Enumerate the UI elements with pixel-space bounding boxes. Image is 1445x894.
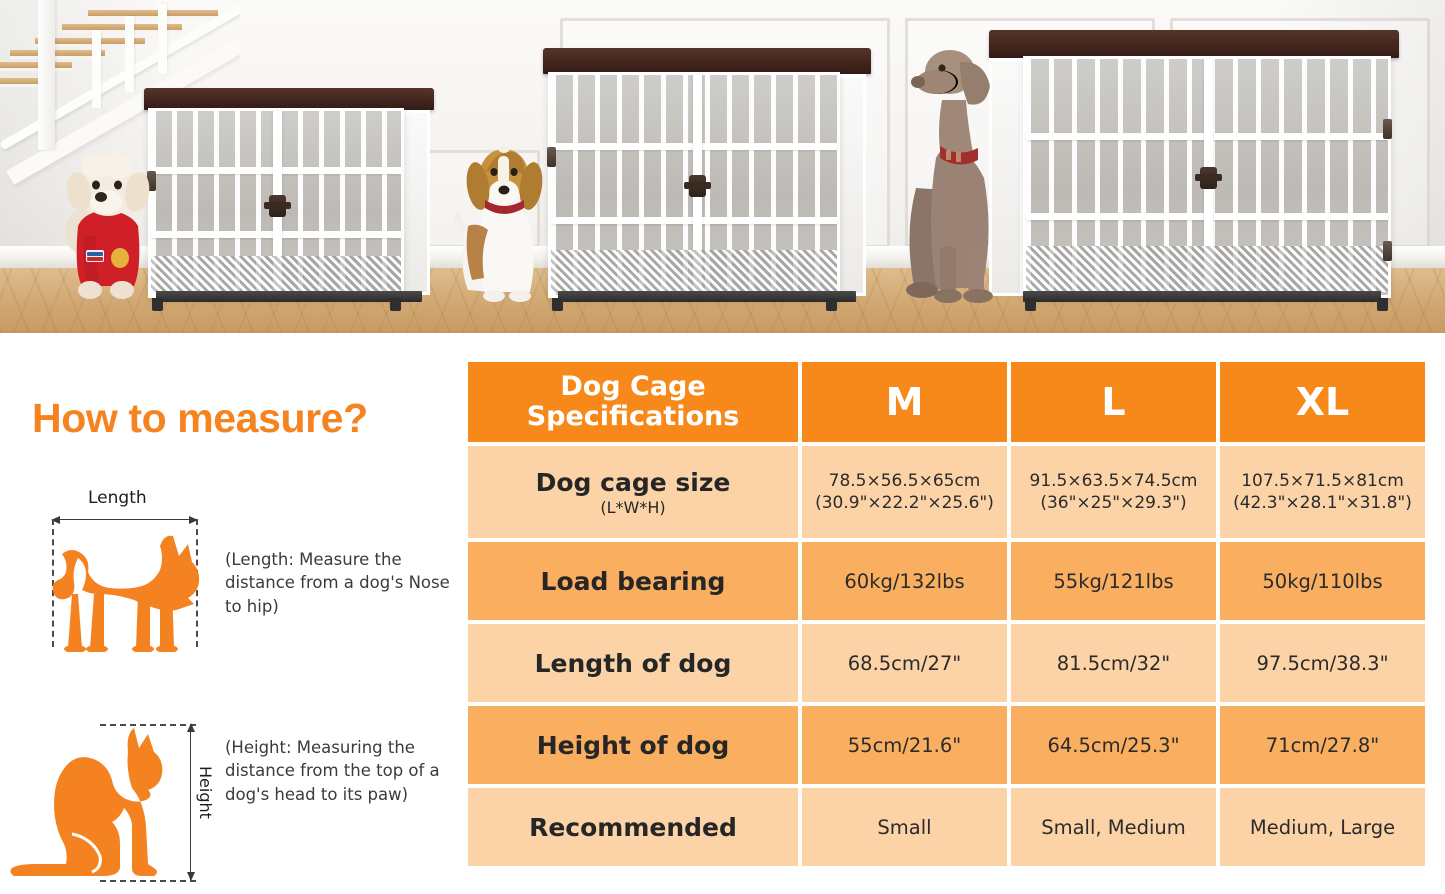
crate-top-panel [144, 88, 434, 110]
table-header-title: Dog Cage Specifications [468, 362, 798, 442]
length-dimension-label: Length [88, 488, 147, 508]
table-header-size-xl: XL [1220, 362, 1425, 442]
row-label-height-of-dog: Height of dog [468, 706, 798, 784]
row-label-length-of-dog: Length of dog [468, 624, 798, 702]
cell-load-bearing-l: 55kg/121lbs [1011, 542, 1216, 620]
crate-floor-grate [1026, 246, 1388, 292]
header-title-line1: Dog Cage [560, 371, 705, 402]
length-arrow [52, 519, 197, 520]
cell-value-cm: 78.5×56.5×65cm [829, 471, 981, 491]
crate-slide-out-tray [1023, 291, 1381, 302]
product-photo-banner [0, 0, 1445, 333]
crate-door-latch [269, 195, 286, 217]
crate-front-frame [1023, 56, 1391, 298]
dog-standing-silhouette [42, 524, 208, 652]
row-sublabel-text: (L*W*H) [468, 498, 798, 517]
crate-front-frame [548, 72, 840, 298]
dog-beagle [452, 130, 557, 302]
row-label-cage-size: Dog cage size (L*W*H) [468, 446, 798, 538]
table-row: Length of dog 68.5cm/27" 81.5cm/32" 97.5… [468, 624, 1425, 702]
crate-door-latch [1200, 167, 1217, 189]
cell-cage-size-m: 78.5×56.5×65cm (30.9"×22.2"×25.6") [802, 446, 1007, 538]
length-caption: (Length: Measure the distance from a dog… [225, 548, 465, 618]
cell-recommended-m: Small [802, 788, 1007, 866]
crate-front-frame [148, 108, 404, 298]
crate-floor-grate [551, 250, 837, 292]
crate-hinge [1383, 119, 1392, 139]
crate-door-latch [689, 175, 706, 197]
crate-top-panel [989, 30, 1399, 58]
cell-load-bearing-m: 60kg/132lbs [802, 542, 1007, 620]
cell-value-in: (30.9"×22.2"×25.6") [815, 493, 994, 513]
cell-height-of-dog-m: 55cm/21.6" [802, 706, 1007, 784]
cell-value-cm: 107.5×71.5×81cm [1241, 471, 1404, 491]
dog-weimaraner [898, 38, 1013, 306]
dog-crate-xlarge [995, 30, 1393, 303]
row-label-load-bearing: Load bearing [468, 542, 798, 620]
table-row: Height of dog 55cm/21.6" 64.5cm/25.3" 71… [468, 706, 1425, 784]
specifications-table: Dog Cage Specifications M L XL Dog cage … [464, 358, 1429, 870]
cell-recommended-xl: Medium, Large [1220, 788, 1425, 866]
dog-small-white [60, 140, 155, 300]
table-row: Load bearing 60kg/132lbs 55kg/121lbs 50k… [468, 542, 1425, 620]
crate-slide-out-tray [156, 291, 421, 302]
cell-value-in: (42.3"×28.1"×31.8") [1233, 493, 1412, 513]
crate-floor-grate [151, 256, 401, 292]
cell-length-of-dog-m: 68.5cm/27" [802, 624, 1007, 702]
cell-height-of-dog-l: 64.5cm/25.3" [1011, 706, 1216, 784]
length-measure-diagram: Length (Length: Measure the distance fro… [0, 488, 460, 653]
row-label-recommended: Recommended [468, 788, 798, 866]
crate-top-panel [543, 48, 871, 74]
dog-crate-medium [148, 88, 430, 303]
dog-sitting-silhouette [8, 726, 193, 882]
cell-value-cm: 91.5×63.5×74.5cm [1030, 471, 1198, 491]
crate-hinge [1383, 241, 1392, 261]
height-caption: (Height: Measuring the distance from the… [225, 736, 465, 806]
header-title-line2: Specifications [527, 401, 740, 432]
how-to-measure-title: How to measure? [32, 395, 368, 442]
dog-crate-large [548, 48, 866, 303]
row-label-text: Dog cage size [536, 468, 731, 497]
cell-length-of-dog-xl: 97.5cm/38.3" [1220, 624, 1425, 702]
crate-slide-out-tray [558, 291, 857, 302]
table-header-row: Dog Cage Specifications M L XL [468, 362, 1425, 442]
info-section: How to measure? Length (Length: Measure … [0, 333, 1445, 894]
height-dimension-label: Height [196, 766, 215, 819]
cell-cage-size-l: 91.5×63.5×74.5cm (36"×25"×29.3") [1011, 446, 1216, 538]
cell-length-of-dog-l: 81.5cm/32" [1011, 624, 1216, 702]
table-row: Recommended Small Small, Medium Medium, … [468, 788, 1425, 866]
table-header-size-l: L [1011, 362, 1216, 442]
cell-value-in: (36"×25"×29.3") [1040, 493, 1186, 513]
table-row: Dog cage size (L*W*H) 78.5×56.5×65cm (30… [468, 446, 1425, 538]
cell-height-of-dog-xl: 71cm/27.8" [1220, 706, 1425, 784]
cell-recommended-l: Small, Medium [1011, 788, 1216, 866]
table-header-size-m: M [802, 362, 1007, 442]
cell-load-bearing-xl: 50kg/110lbs [1220, 542, 1425, 620]
height-measure-diagram: Height (Height: Measuring the distance f… [0, 708, 460, 893]
cell-cage-size-xl: 107.5×71.5×81cm (42.3"×28.1"×31.8") [1220, 446, 1425, 538]
